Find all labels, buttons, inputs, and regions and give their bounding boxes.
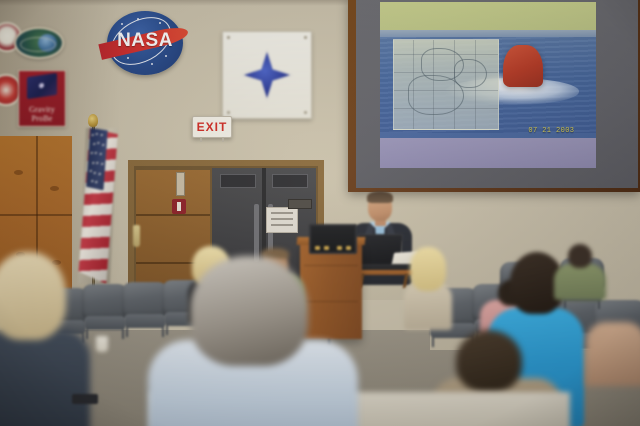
projection-screen: 07 21 2003: [356, 0, 638, 188]
door-hardware: [176, 172, 185, 196]
star-poster-diamond-icon: [244, 52, 290, 98]
wall-nameplate: [288, 199, 312, 209]
slide-sky: [380, 2, 596, 32]
slide-map-overlay: [393, 39, 499, 131]
auditorium-photo: Gravity ProBe NASA EXIT: [0, 0, 640, 426]
water-bottle[interactable]: [133, 225, 140, 247]
attendee-hand-right: [586, 306, 640, 386]
presentation-slide: 07 21 2003: [380, 2, 596, 168]
slide-lower-band: [380, 138, 596, 168]
coffee-cup[interactable]: [96, 336, 108, 352]
star-poster: [222, 31, 312, 119]
fire-alarm-sign[interactable]: [172, 199, 186, 214]
slide-timestamp: 07 21 2003: [528, 127, 574, 135]
nasa-logo: NASA: [101, 8, 189, 78]
confidence-monitor[interactable]: [309, 224, 357, 254]
attendee-gray-hair-foreground: [148, 256, 358, 426]
slide-capsule: [503, 45, 543, 87]
exit-sign: EXIT: [192, 116, 232, 138]
mobile-phone[interactable]: [72, 394, 98, 404]
mission-patch-oval: [14, 27, 64, 59]
gravity-probe-line2: ProBe: [32, 114, 53, 123]
gravity-probe-line1: Gravity: [29, 105, 55, 114]
attendee-blonde-standing: [404, 248, 452, 328]
flag-finial: [88, 114, 98, 127]
door-placard: [266, 207, 298, 233]
attendee-back-right: [554, 244, 606, 296]
presenter-hair: [367, 191, 393, 203]
gravity-probe-poster: Gravity ProBe: [18, 70, 66, 127]
nasa-logo-text: NASA: [101, 30, 189, 52]
gravity-probe-artwork: [27, 73, 57, 99]
exit-sign-label: EXIT: [197, 121, 228, 133]
